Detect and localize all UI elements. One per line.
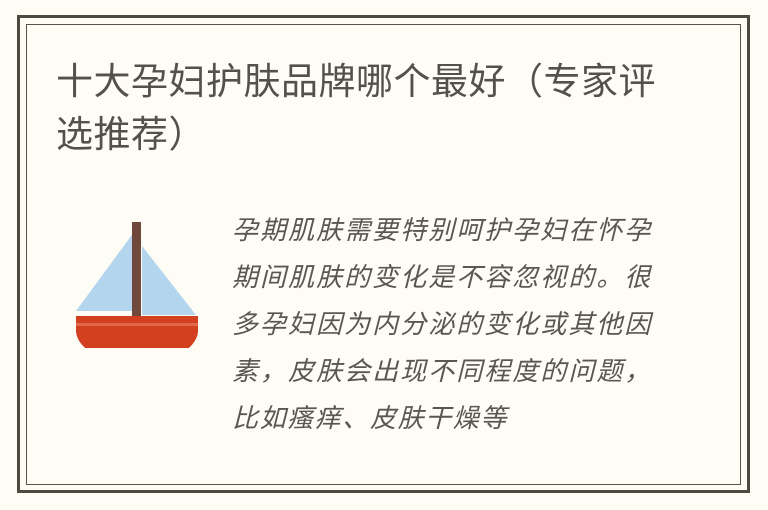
article-body: 孕期肌肤需要特别呵护孕妇在怀孕期间肌肤的变化是不容忽视的。很多孕妇因为内分泌的变… (232, 208, 652, 443)
content-row: 孕期肌肤需要特别呵护孕妇在怀孕期间肌肤的变化是不容忽视的。很多孕妇因为内分泌的变… (56, 200, 696, 470)
page-title: 十大孕妇护肤品牌哪个最好（专家评选推荐） (56, 55, 681, 161)
article-card: 十大孕妇护肤品牌哪个最好（专家评选推荐） 孕期肌肤需要特别呵护孕妇在怀孕期间肌肤… (0, 0, 768, 510)
sailboat-icon (66, 208, 206, 348)
